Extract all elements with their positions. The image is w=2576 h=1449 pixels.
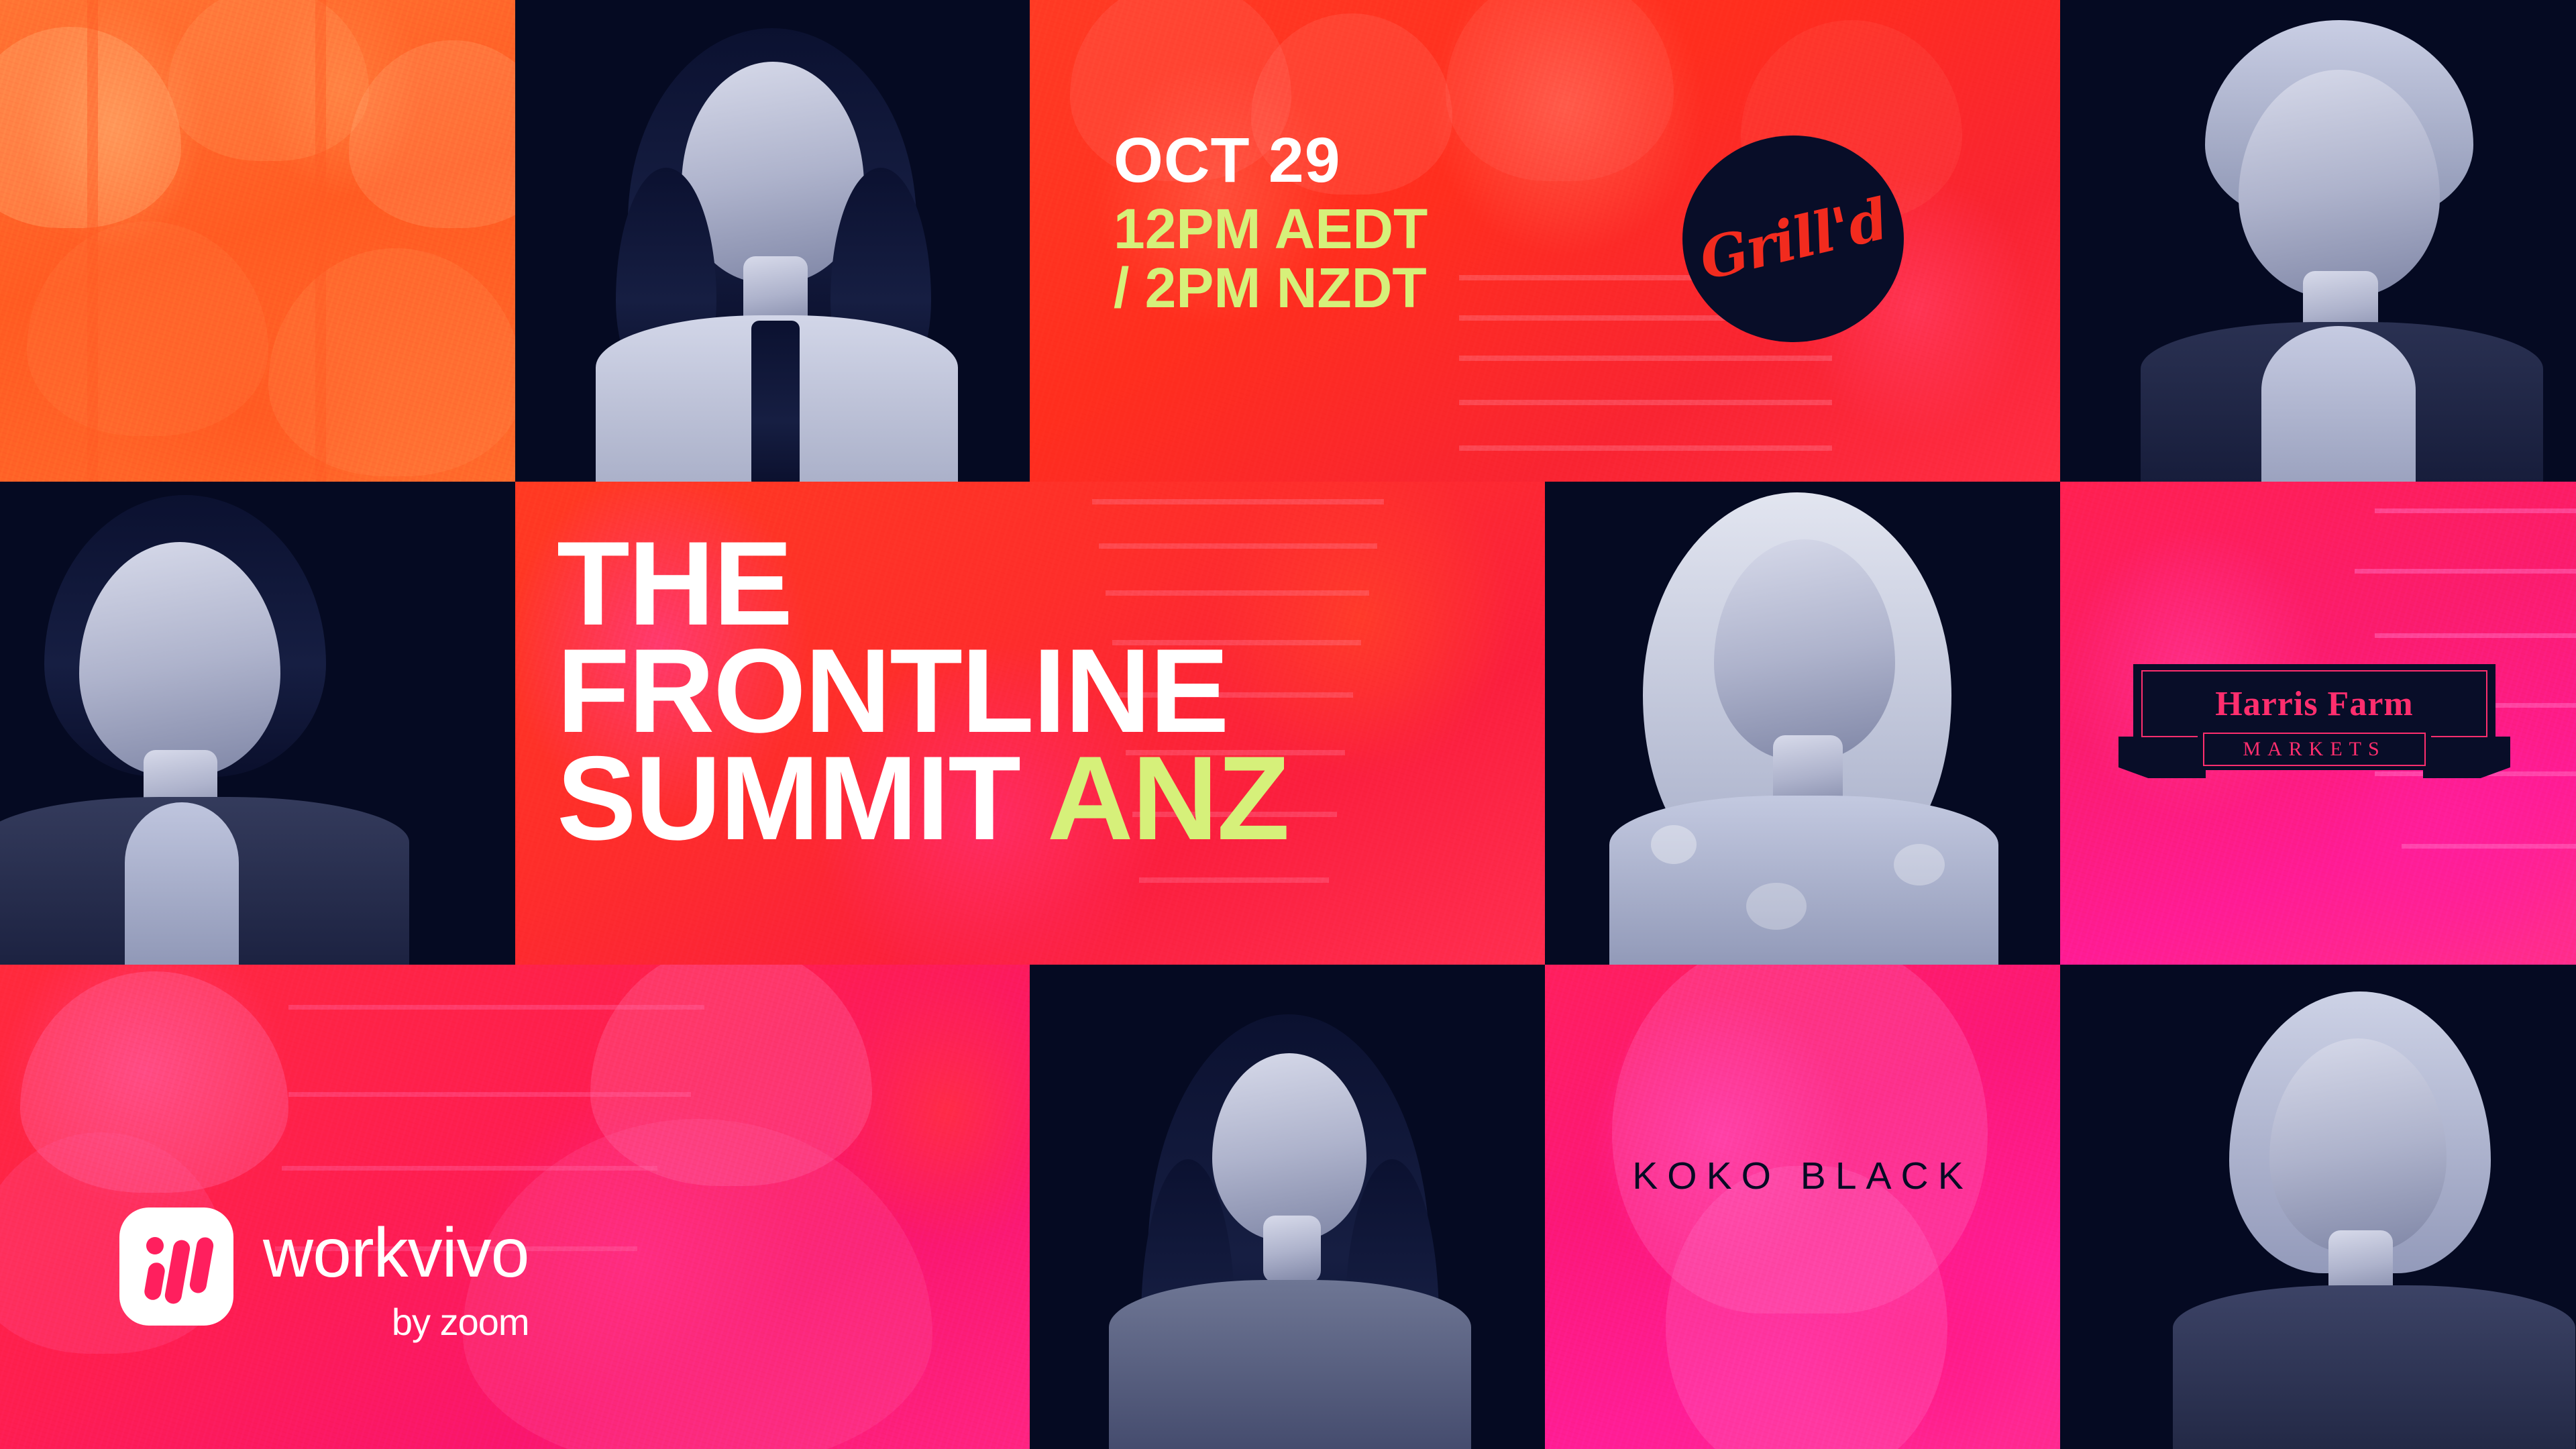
tile-speaker-2 [2060,0,2576,482]
tile-speaker-3 [0,482,515,965]
event-title-summit: SUMMIT [557,731,1020,865]
tile-speaker-4 [1545,482,2060,965]
event-title-block: THE FRONTLINE SUMMIT ANZ [557,530,1289,853]
workvivo-wordmark-group: workvivo by zoom [263,1207,529,1344]
workvivo-logo: workvivo by zoom [119,1207,529,1344]
sponsor-logo-harris-farm: Harris Farm MARKETS [2133,664,2495,778]
event-time: 12PM AEDT / 2PM NZDT [1114,199,1428,317]
event-date: OCT 29 [1114,127,1428,194]
event-title-region: ANZ [1047,731,1289,865]
event-title-line-1: THE [557,530,1289,637]
workvivo-w-icon [119,1207,233,1326]
sponsor-harris-farm-wordmark: Harris Farm [2215,684,2413,724]
tile-speaker-1 [515,0,1030,482]
tile-speaker-5 [1030,965,1545,1449]
sponsor-harris-farm-subtitle: MARKETS [2243,738,2385,761]
tile-workvivo-panel [0,965,1030,1449]
poster-canvas: OCT 29 12PM AEDT / 2PM NZDT THE FRONTLIN… [0,0,2576,1449]
event-date-block: OCT 29 12PM AEDT / 2PM NZDT [1114,127,1428,317]
sponsor-grilld-wordmark: Grill'd [1693,185,1892,292]
event-title-line-2: FRONTLINE [557,637,1289,745]
tile-koko-black-panel [1545,965,2060,1449]
tile-hardhats-orange [0,0,515,482]
sponsor-logo-koko-black: KOKO BLACK [1545,1154,2060,1198]
tile-speaker-6 [2060,965,2576,1449]
event-title-line-3: SUMMIT ANZ [557,745,1289,852]
harris-farm-band: MARKETS [2198,729,2431,770]
sponsor-logo-grilld: Grill'd [1682,136,1904,342]
workvivo-wordmark: workvivo [263,1218,529,1288]
workvivo-tagline: by zoom [263,1300,529,1344]
